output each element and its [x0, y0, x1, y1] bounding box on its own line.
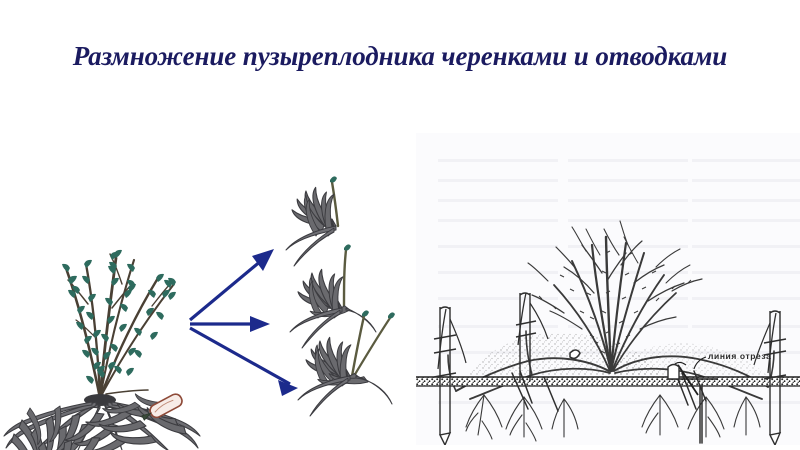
- division-propagation-svg: [0, 108, 410, 450]
- slide-canvas: Размножение пузыреплодника черенками и о…: [0, 0, 800, 450]
- flow-arrows: [190, 249, 298, 396]
- layering-propagation-svg: линия отреза: [416, 133, 800, 445]
- cut-line-label: линия отреза: [708, 351, 771, 361]
- division-3: [298, 310, 395, 416]
- soil-line: [416, 377, 800, 386]
- arrow-right: [190, 316, 270, 332]
- division-propagation-figure: [0, 108, 410, 450]
- arrow-down-right: [190, 328, 298, 396]
- division-2: [290, 244, 376, 348]
- cut-stub: [668, 365, 679, 380]
- arrow-up-right: [190, 249, 274, 320]
- layering-propagation-figure: линия отреза: [416, 133, 800, 445]
- page-title: Размножение пузыреплодника черенками и о…: [0, 42, 800, 70]
- division-1: [286, 176, 352, 266]
